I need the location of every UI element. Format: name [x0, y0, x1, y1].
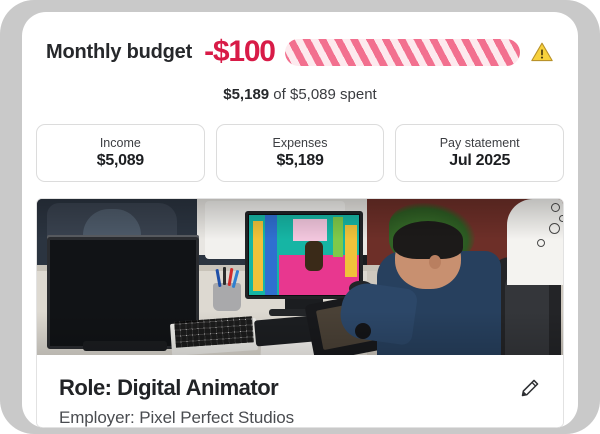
- pencil-icon[interactable]: [518, 377, 541, 400]
- stat-card-expenses[interactable]: Expenses $5,189: [216, 124, 385, 182]
- stat-label: Expenses: [273, 135, 328, 151]
- warning-triangle-icon: [530, 40, 554, 64]
- stat-card-pay-statement[interactable]: Pay statement Jul 2025: [395, 124, 564, 182]
- workspace-photo: [37, 199, 563, 355]
- role-title: Role: Digital Animator: [59, 375, 278, 401]
- stat-label: Income: [100, 135, 141, 151]
- stat-label: Pay statement: [440, 135, 520, 151]
- stats-row: Income $5,089 Expenses $5,189 Pay statem…: [36, 124, 564, 182]
- spent-summary: $5,189 of $5,089 spent: [22, 86, 578, 103]
- stat-value: $5,189: [276, 151, 323, 171]
- stat-value: Jul 2025: [449, 151, 510, 171]
- job-media-panel: Role: Digital Animator Employer: Pixel P…: [36, 198, 564, 428]
- device-frame: Monthly budget -$100 $5,189 of $5,089 sp…: [0, 0, 600, 434]
- role-header-line: Role: Digital Animator: [59, 375, 541, 401]
- budget-amount: -$100: [204, 35, 275, 69]
- employer-name: Employer: Pixel Perfect Studios: [59, 407, 541, 428]
- budget-card: Monthly budget -$100 $5,189 of $5,089 sp…: [22, 12, 578, 428]
- spent-used-amount: $5,189: [223, 86, 269, 103]
- monthly-budget-row: Monthly budget -$100: [22, 30, 578, 74]
- stat-value: $5,089: [97, 151, 144, 171]
- budget-title: Monthly budget: [46, 41, 192, 64]
- spent-total-label: of $5,089 spent: [269, 86, 377, 103]
- budget-progress-bar: [285, 39, 520, 66]
- stat-card-income[interactable]: Income $5,089: [36, 124, 205, 182]
- role-block: Role: Digital Animator Employer: Pixel P…: [37, 355, 563, 428]
